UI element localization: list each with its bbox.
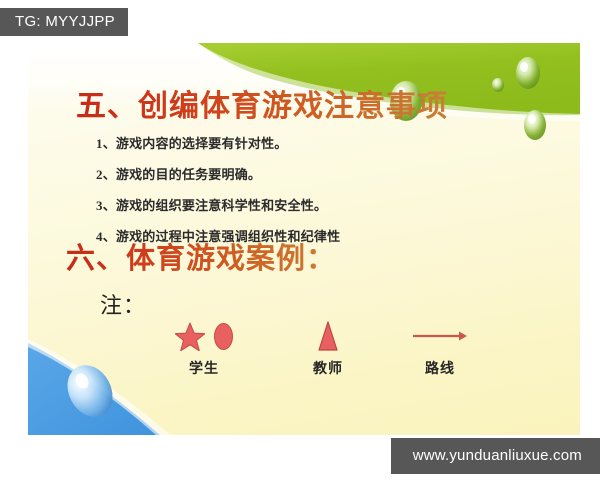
ellipse-icon	[214, 323, 233, 350]
bullet-text-1: 游戏内容的选择要有针对性。	[116, 137, 288, 152]
note-label: 注：	[100, 288, 146, 320]
bullet-text-2: 游戏的目的任务要明确。	[116, 168, 261, 183]
legend-glyphs-route	[394, 315, 486, 357]
legend-item-teacher: 教师	[286, 315, 370, 378]
bullet-item-2: 2、游戏的目的任务要明确。	[96, 164, 340, 183]
legend-item-route: 路线	[394, 315, 486, 378]
slide-content: 五、创编体育游戏注意事项 1、游戏内容的选择要有针对性。 2、游戏的目的任务要明…	[28, 43, 580, 435]
slide-heading-five: 五、创编体育游戏注意事项	[76, 81, 448, 125]
site-watermark-bar: www.yunduanliuxue.com	[391, 438, 600, 474]
bullet-item-3: 3、游戏的组织要注意科学性和安全性。	[96, 195, 340, 214]
tg-watermark-text: TG: MYYJJPP	[15, 13, 115, 30]
bullet-number-3: 3、	[96, 198, 116, 213]
symbol-legend: 学生 教师 路线	[156, 315, 486, 381]
legend-label-student: 学生	[156, 358, 252, 378]
bullet-number-1: 1、	[96, 136, 116, 151]
site-watermark-text: www.yunduanliuxue.com	[413, 447, 582, 464]
bullet-item-1: 1、游戏内容的选择要有针对性。	[96, 133, 340, 152]
arrow-icon	[412, 329, 468, 343]
slide-heading-six: 六、体育游戏案例：	[66, 235, 336, 277]
legend-item-student: 学生	[156, 315, 252, 378]
star-icon	[175, 322, 205, 351]
tg-watermark-badge: TG: MYYJJPP	[0, 8, 128, 36]
legend-glyphs-student	[156, 315, 252, 357]
legend-label-route: 路线	[394, 358, 486, 378]
slide-canvas: 五、创编体育游戏注意事项 1、游戏内容的选择要有针对性。 2、游戏的目的任务要明…	[28, 43, 580, 435]
bullet-text-3: 游戏的组织要注意科学性和安全性。	[116, 199, 327, 214]
bullet-number-2: 2、	[96, 167, 116, 182]
legend-glyphs-teacher	[286, 315, 370, 357]
legend-label-teacher: 教师	[286, 358, 370, 378]
triangle-icon	[317, 321, 339, 351]
